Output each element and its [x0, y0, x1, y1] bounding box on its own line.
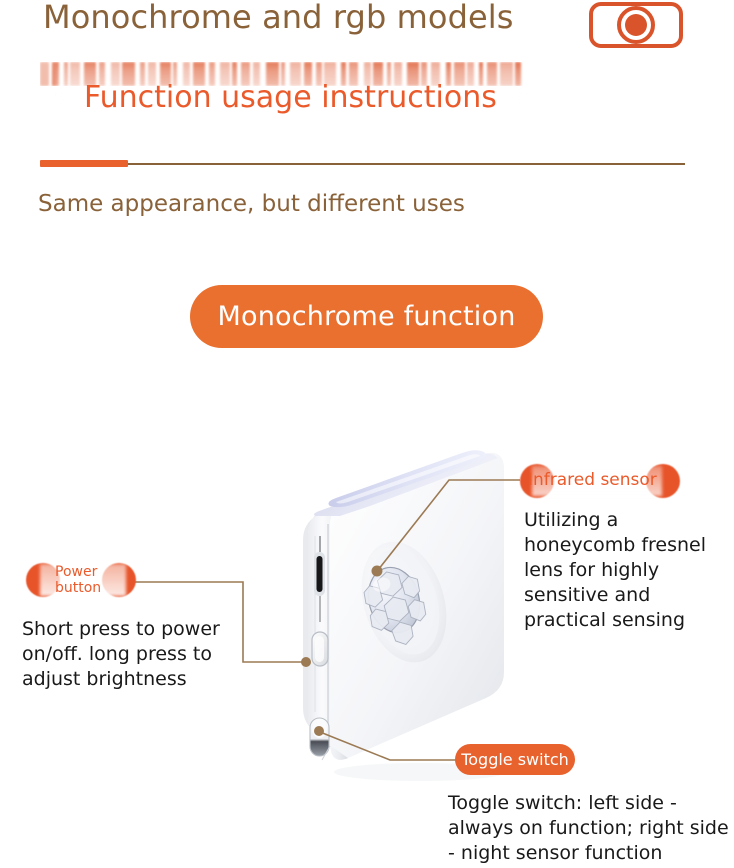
product-instruction-page: Monochrome and rgb models Function usage…	[0, 0, 734, 868]
badge-infrared-sensor: Infrared sensor	[520, 464, 680, 498]
tagline: Same appearance, but different uses	[38, 191, 465, 217]
camera-lens-icon	[589, 2, 683, 48]
badge-power-line1: Power	[55, 564, 97, 580]
divider-accent	[40, 160, 128, 167]
badge-power-line2: button	[55, 580, 101, 596]
note-toggle-switch: Toggle switch: left side - always on fun…	[448, 791, 734, 866]
note-infrared-sensor: Utilizing a honeycomb fresnel lens for h…	[524, 508, 709, 633]
page-title: Monochrome and rgb models	[43, 0, 514, 36]
badge-power-button: Power button	[26, 563, 136, 597]
badge-infrared-label: Infrared sensor	[528, 470, 657, 490]
note-power-button: Short press to power on/off. long press …	[22, 617, 247, 692]
monochrome-function-label: Monochrome function	[217, 301, 515, 332]
monochrome-function-button[interactable]: Monochrome function	[190, 285, 543, 348]
camera-lens-dot	[625, 14, 647, 36]
divider-line	[40, 163, 685, 165]
badge-toggle-label: Toggle switch	[461, 750, 569, 769]
obscured-glyph	[40, 62, 49, 86]
badge-toggle-switch: Toggle switch	[455, 744, 575, 775]
banner-subtitle: Function usage instructions	[84, 80, 497, 115]
